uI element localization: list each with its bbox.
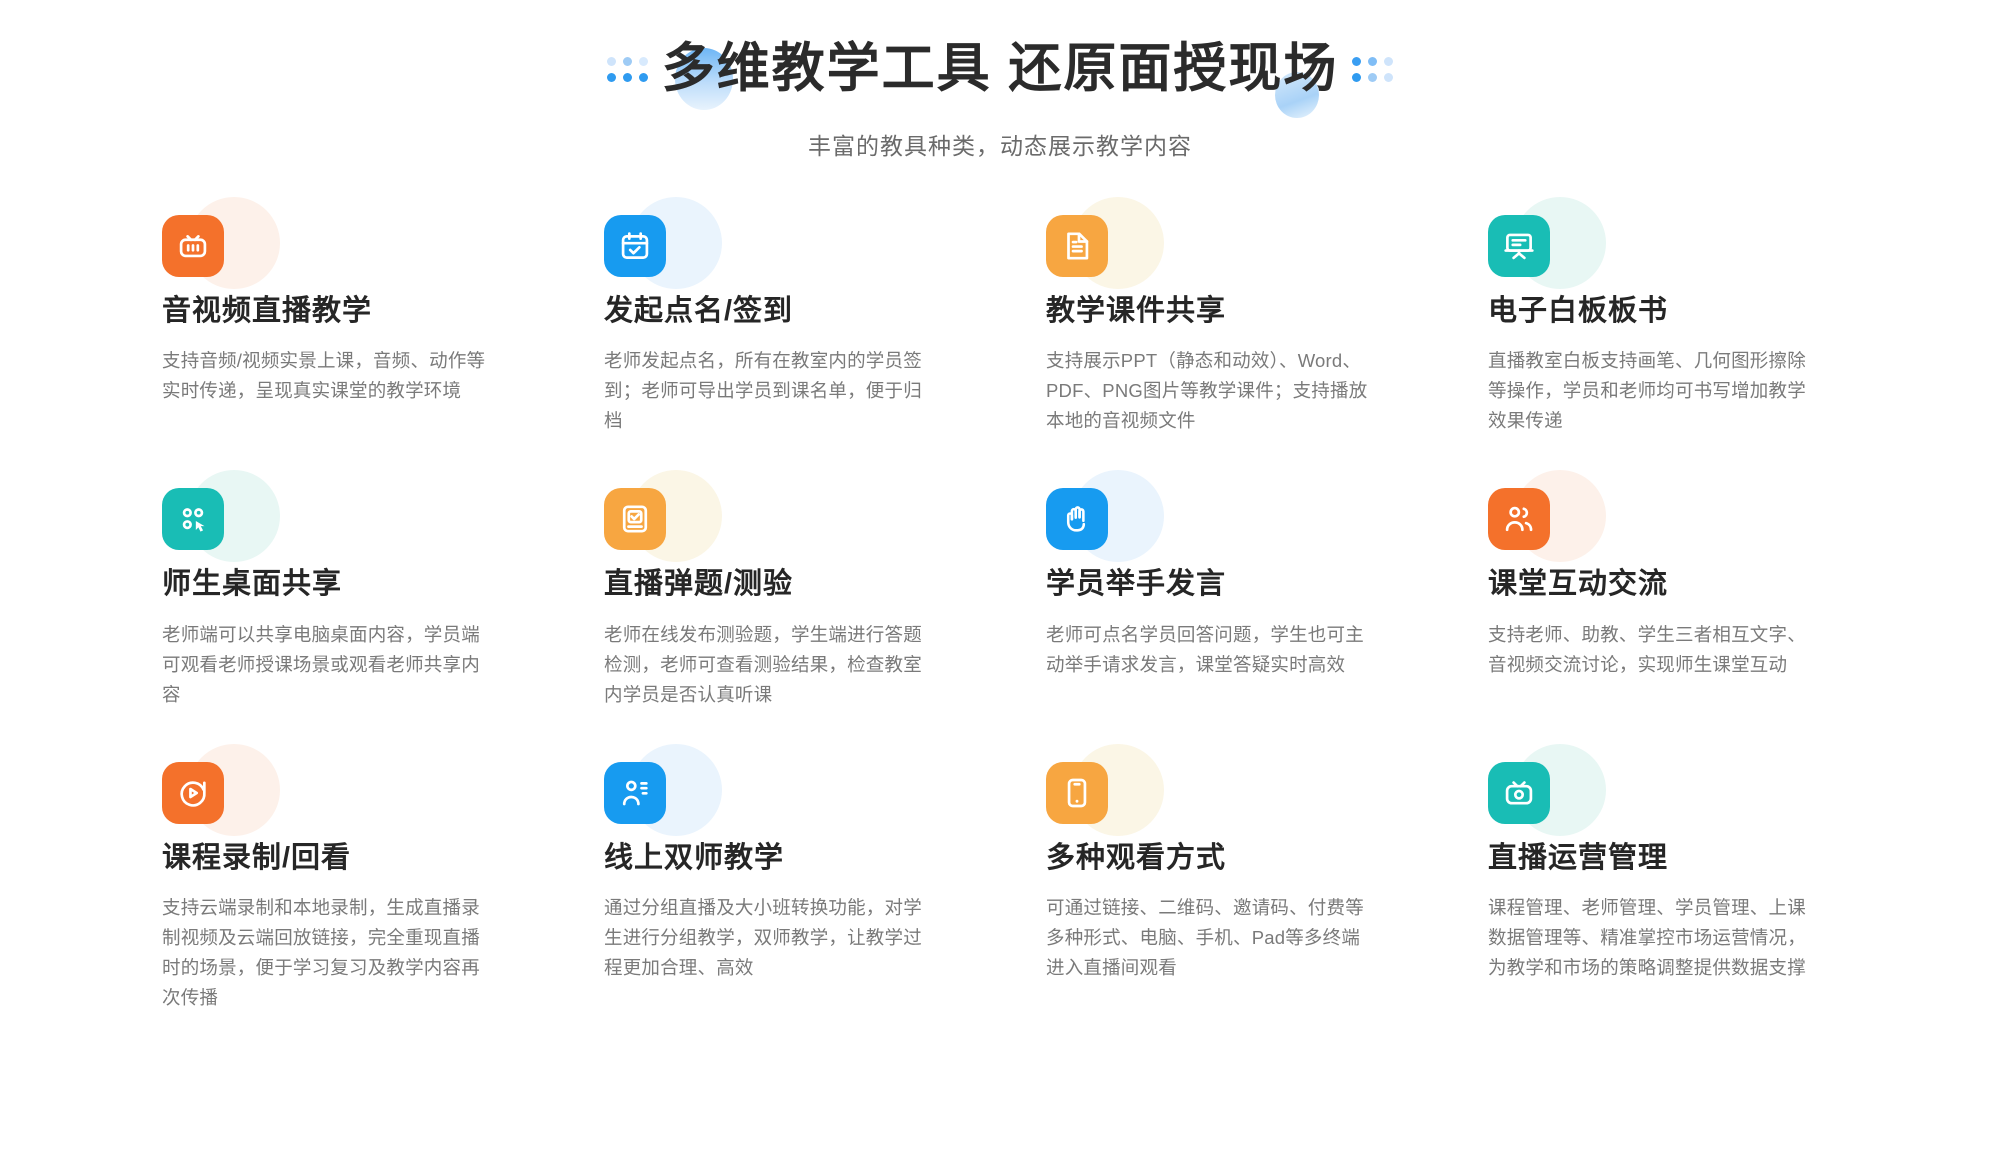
card-title: 电子白板板书	[1488, 293, 1843, 331]
card-icon-wrap	[162, 762, 224, 824]
feature-card[interactable]: 学员举手发言老师可点名学员回答问题，学生也可主动举手请求发言，课堂答疑实时高效	[1046, 488, 1401, 710]
live-tv-icon	[162, 215, 224, 277]
card-icon-wrap	[162, 215, 224, 277]
card-description: 老师端可以共享电脑桌面内容，学员端可观看老师授课场景或观看老师共享内容	[162, 620, 492, 710]
feature-card[interactable]: 发起点名/签到老师发起点名，所有在教室内的学员签到；老师可导出学员到课名单，便于…	[604, 215, 959, 437]
screen-share-cursor-icon	[162, 488, 224, 550]
feature-card-grid: 音视频直播教学支持音频/视频实景上课，音频、动作等实时传递，呈现真实课堂的教学环…	[70, 215, 1930, 1014]
card-icon-wrap	[604, 215, 666, 277]
card-description: 可通过链接、二维码、邀请码、付费等多种形式、电脑、手机、Pad等多终端进入直播间…	[1046, 893, 1376, 983]
card-icon-wrap	[1488, 762, 1550, 824]
users-group-icon	[1488, 488, 1550, 550]
card-icon-wrap	[604, 488, 666, 550]
feature-card[interactable]: 多种观看方式可通过链接、二维码、邀请码、付费等多种形式、电脑、手机、Pad等多终…	[1046, 762, 1401, 1014]
card-icon-wrap	[1046, 215, 1108, 277]
card-title: 发起点名/签到	[604, 293, 959, 331]
feature-card[interactable]: 教学课件共享支持展示PPT（静态和动效）、Word、PDF、PNG图片等教学课件…	[1046, 215, 1401, 437]
title-row: 多维教学工具 还原面授现场	[607, 38, 1394, 101]
card-description: 通过分组直播及大小班转换功能，对学生进行分组教学，双师教学，让教学过程更加合理、…	[604, 893, 934, 983]
card-description: 直播教室白板支持画笔、几何图形擦除等操作，学员和老师均可书写增加教学效果传递	[1488, 346, 1818, 436]
card-description: 支持音频/视频实景上课，音频、动作等实时传递，呈现真实课堂的教学环境	[162, 346, 492, 406]
card-description: 支持展示PPT（静态和动效）、Word、PDF、PNG图片等教学课件；支持播放本…	[1046, 346, 1376, 436]
card-description: 支持云端录制和本地录制，生成直播录制视频及云端回放链接，完全重现直播时的场景，便…	[162, 893, 492, 1013]
card-description: 支持老师、助教、学生三者相互文字、音视频交流讨论，实现师生课堂互动	[1488, 620, 1818, 680]
card-icon-wrap	[604, 762, 666, 824]
mobile-device-icon	[1046, 762, 1108, 824]
card-icon-wrap	[1046, 488, 1108, 550]
feature-card[interactable]: 直播运营管理课程管理、老师管理、学员管理、上课数据管理等、精准掌控市场运营情况，…	[1488, 762, 1843, 1014]
card-title: 学员举手发言	[1046, 566, 1401, 604]
card-icon-wrap	[1488, 215, 1550, 277]
feature-card[interactable]: 电子白板板书直播教室白板支持画笔、几何图形擦除等操作，学员和老师均可书写增加教学…	[1488, 215, 1843, 437]
card-title: 教学课件共享	[1046, 293, 1401, 331]
card-description: 老师发起点名，所有在教室内的学员签到；老师可导出学员到课名单，便于归档	[604, 346, 934, 436]
card-icon-wrap	[162, 488, 224, 550]
feature-card[interactable]: 音视频直播教学支持音频/视频实景上课，音频、动作等实时传递，呈现真实课堂的教学环…	[162, 215, 517, 437]
dual-teacher-icon	[604, 762, 666, 824]
broadcast-manage-icon	[1488, 762, 1550, 824]
card-title: 直播弹题/测验	[604, 566, 959, 604]
page-title: 多维教学工具 还原面授现场	[662, 38, 1339, 101]
quiz-checkbox-icon	[604, 488, 666, 550]
feature-card[interactable]: 课堂互动交流支持老师、助教、学生三者相互文字、音视频交流讨论，实现师生课堂互动	[1488, 488, 1843, 710]
record-playback-icon	[162, 762, 224, 824]
card-title: 课程录制/回看	[162, 840, 517, 878]
calendar-check-icon	[604, 215, 666, 277]
raise-hand-icon	[1046, 488, 1108, 550]
card-title: 多种观看方式	[1046, 840, 1401, 878]
card-title: 师生桌面共享	[162, 566, 517, 604]
feature-card[interactable]: 线上双师教学通过分组直播及大小班转换功能，对学生进行分组教学，双师教学，让教学过…	[604, 762, 959, 1014]
document-icon	[1046, 215, 1108, 277]
dot-grid-icon-right	[1352, 57, 1393, 82]
card-description: 老师在线发布测验题，学生端进行答题检测，老师可查看测验结果，检查教室内学员是否认…	[604, 620, 934, 710]
dot-grid-icon-left	[607, 57, 648, 82]
feature-card[interactable]: 师生桌面共享老师端可以共享电脑桌面内容，学员端可观看老师授课场景或观看老师共享内…	[162, 488, 517, 710]
card-icon-wrap	[1488, 488, 1550, 550]
card-description: 老师可点名学员回答问题，学生也可主动举手请求发言，课堂答疑实时高效	[1046, 620, 1376, 680]
card-description: 课程管理、老师管理、学员管理、上课数据管理等、精准掌控市场运营情况，为教学和市场…	[1488, 893, 1818, 983]
feature-grid-page: 多维教学工具 还原面授现场 丰富的教具种类，动态展示教学内容 音视频直播教学支持…	[0, 0, 2000, 1170]
card-title: 课堂互动交流	[1488, 566, 1843, 604]
card-title: 线上双师教学	[604, 840, 959, 878]
whiteboard-icon	[1488, 215, 1550, 277]
feature-card[interactable]: 直播弹题/测验老师在线发布测验题，学生端进行答题检测，老师可查看测验结果，检查教…	[604, 488, 959, 710]
page-subtitle: 丰富的教具种类，动态展示教学内容	[0, 127, 2000, 161]
feature-card[interactable]: 课程录制/回看支持云端录制和本地录制，生成直播录制视频及云端回放链接，完全重现直…	[162, 762, 517, 1014]
page-header: 多维教学工具 还原面授现场 丰富的教具种类，动态展示教学内容	[0, 0, 2000, 161]
card-icon-wrap	[1046, 762, 1108, 824]
card-title: 直播运营管理	[1488, 840, 1843, 878]
card-title: 音视频直播教学	[162, 293, 517, 331]
